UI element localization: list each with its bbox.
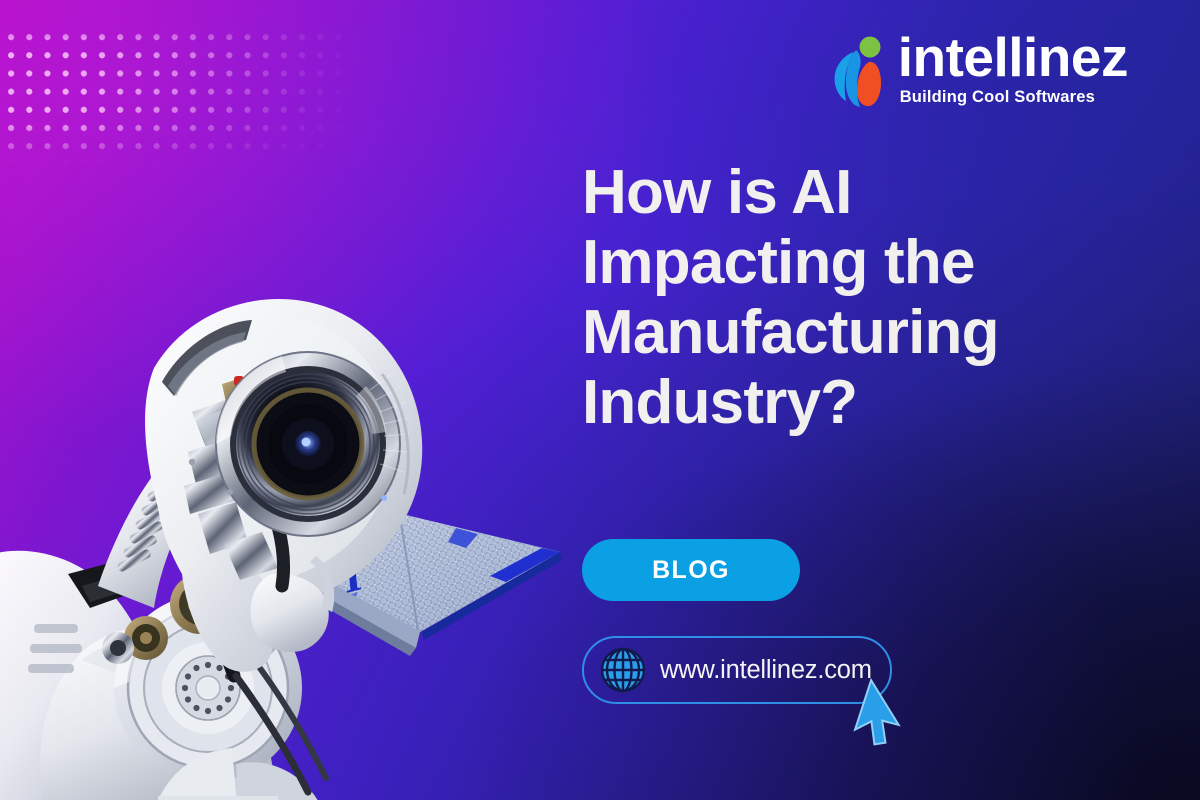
headline-line-2: Impacting the <box>582 228 975 297</box>
globe-icon <box>600 647 646 693</box>
brand-logo[interactable]: intellinez Building Cool Softwares <box>832 34 1128 110</box>
blog-banner: A I <box>0 0 1200 800</box>
blog-button-label: BLOG <box>652 556 730 585</box>
page-title: How is AI Impacting the Manufacturing In… <box>582 158 1162 438</box>
dot-grid-pattern <box>0 24 356 164</box>
intellinez-leaf-logo-icon <box>832 36 884 110</box>
website-url-text: www.intellinez.com <box>660 656 872 685</box>
brand-tagline: Building Cool Softwares <box>900 88 1095 107</box>
humanoid-robot-illustration: A I <box>0 256 586 800</box>
headline-line-3: Manufacturing <box>582 298 999 367</box>
website-url-badge[interactable]: www.intellinez.com <box>582 636 892 704</box>
headline-line-1: How is AI <box>582 158 852 227</box>
headline-line-4: Industry? <box>582 368 857 437</box>
blog-button[interactable]: BLOG <box>582 539 800 601</box>
brand-name: intellinez <box>898 34 1128 81</box>
